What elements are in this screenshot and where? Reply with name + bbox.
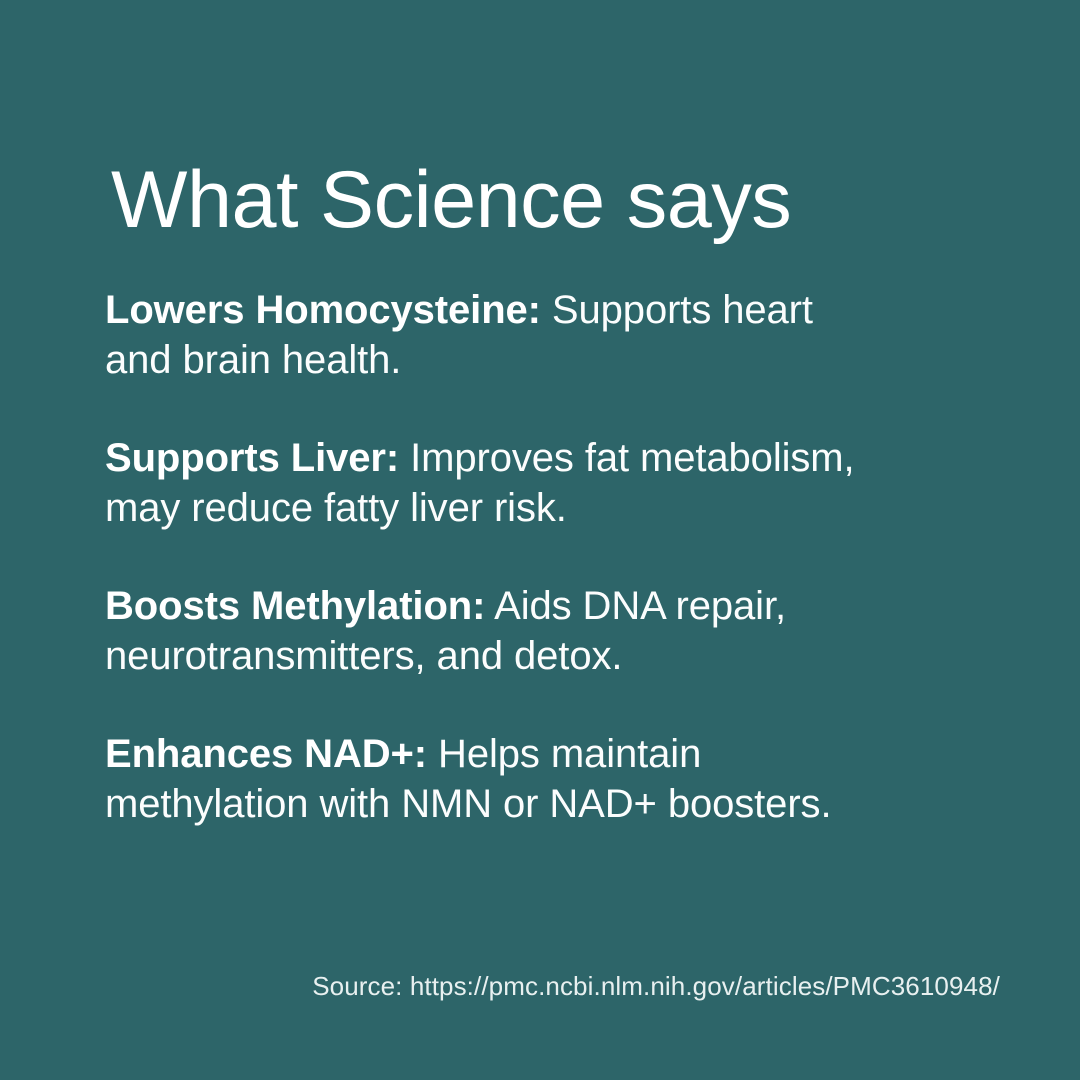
list-item: Supports Liver: Improves fat metabolism,… — [105, 433, 865, 533]
list-item: Enhances NAD+: Helps maintain methylatio… — [105, 729, 865, 829]
list-item: Boosts Methylation: Aids DNA repair, neu… — [105, 581, 865, 681]
list-item-lead: Lowers Homocysteine: — [105, 288, 541, 332]
list-item-lead: Boosts Methylation: — [105, 584, 485, 628]
list-item-lead: Enhances NAD+: — [105, 732, 427, 776]
list-item-lead: Supports Liver: — [105, 436, 399, 480]
list-item: Lowers Homocysteine: Supports heart and … — [105, 285, 865, 385]
page-title: What Science says — [111, 160, 791, 241]
benefits-list: Lowers Homocysteine: Supports heart and … — [105, 285, 865, 829]
source-citation: Source: https://pmc.ncbi.nlm.nih.gov/art… — [312, 970, 1000, 1002]
info-card: What Science says Lowers Homocysteine: S… — [0, 0, 1080, 1080]
